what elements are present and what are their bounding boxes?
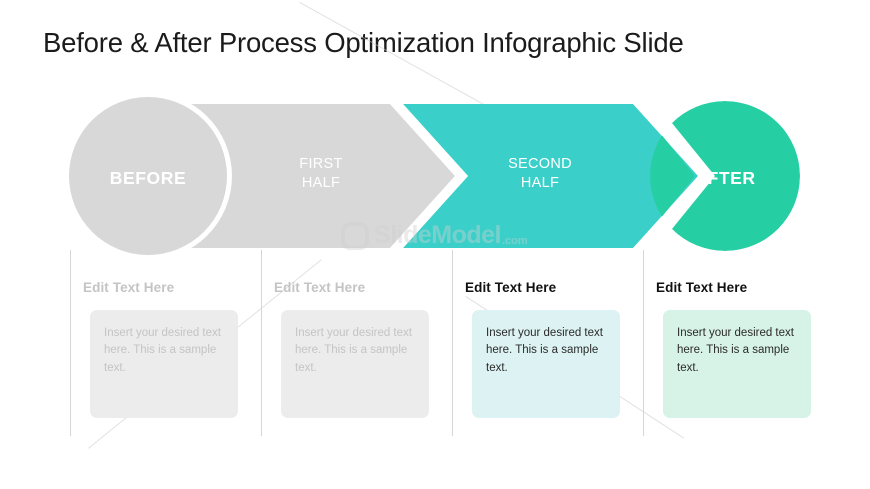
stage-shape-second-half	[403, 104, 698, 248]
chevron-separator-gap	[390, 104, 468, 248]
stage-label-after: AFTER	[665, 167, 785, 190]
column-divider	[261, 250, 262, 436]
stage-label-before: BEFORE	[88, 167, 208, 190]
slide-canvas: Before & After Process Optimization Info…	[0, 0, 870, 489]
watermark-text: SlideModel	[374, 221, 501, 250]
watermark-tld: .com	[502, 235, 528, 247]
stage-label-second-half: SECOND HALF	[480, 155, 600, 193]
stage-shape-first-half	[150, 104, 455, 248]
stage-label-first-half: FIRST HALF	[261, 155, 381, 193]
column-body-text[interactable]: Insert your desired text here. This is a…	[281, 310, 429, 418]
column-divider	[70, 250, 71, 436]
rounded-square-logo-icon	[341, 222, 369, 250]
watermark: SlideModel .com	[341, 221, 528, 250]
column-divider	[452, 250, 453, 436]
column-body-text[interactable]: Insert your desired text here. This is a…	[472, 310, 620, 418]
column-heading[interactable]: Edit Text Here	[274, 280, 365, 295]
column-body-text[interactable]: Insert your desired text here. This is a…	[90, 310, 238, 418]
column-heading[interactable]: Edit Text Here	[83, 280, 174, 295]
column-body-text[interactable]: Insert your desired text here. This is a…	[663, 310, 811, 418]
column-heading[interactable]: Edit Text Here	[656, 280, 747, 295]
page-title: Before & After Process Optimization Info…	[43, 27, 684, 59]
stage-ring-before	[64, 92, 232, 260]
stage-shape-before	[69, 97, 227, 255]
column-divider	[643, 250, 644, 436]
stage-shape-after	[650, 101, 800, 251]
column-heading[interactable]: Edit Text Here	[465, 280, 556, 295]
